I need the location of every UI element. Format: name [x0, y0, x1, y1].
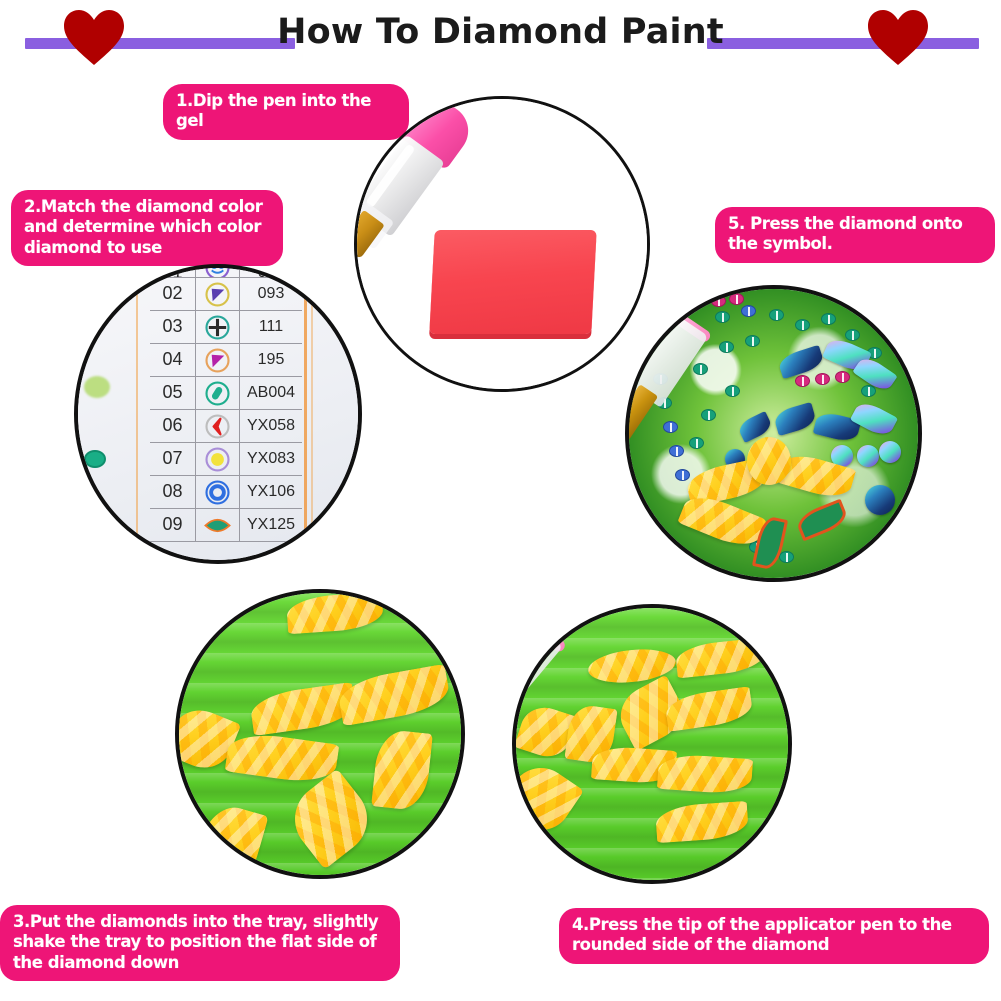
chart-guide-left	[136, 268, 138, 560]
canvas-symbol	[861, 385, 876, 397]
color-chart-row: 08YX106	[150, 476, 302, 509]
chart-cell-number: 08	[150, 476, 196, 508]
chart-cell-number: 09	[150, 509, 196, 541]
chart-cell-number: 04	[150, 344, 196, 376]
canvas-symbol	[795, 375, 810, 387]
chart-cell-code: YX125	[240, 509, 302, 541]
chart-cell-number: 07	[150, 443, 196, 475]
canvas-symbol	[815, 373, 830, 385]
canvas-symbol	[693, 363, 708, 375]
placed-gem	[857, 445, 879, 467]
chart-cell-symbol	[196, 410, 240, 442]
color-chart-row: 06YX058	[150, 410, 302, 443]
chart-guide-right	[304, 268, 307, 560]
step-5-label: 5. Press the diamond onto the symbol.	[715, 207, 995, 263]
canvas-symbol	[669, 445, 684, 457]
canvas-symbol	[845, 329, 860, 341]
chart-cell-symbol	[196, 311, 240, 343]
chart-cell-symbol	[196, 278, 240, 310]
step-3-photo	[175, 589, 465, 879]
chart-cell-symbol	[196, 509, 240, 541]
chart-cell-number: 02	[150, 278, 196, 310]
chart-bleed-dot-teal	[84, 450, 106, 468]
placed-gem	[879, 441, 901, 463]
step-4-photo	[512, 604, 792, 884]
color-chart-row: 02093	[150, 278, 302, 311]
chart-cell-code: 195	[240, 344, 302, 376]
canvas-symbol	[711, 295, 726, 307]
chart-bleed-dot-green	[84, 376, 110, 398]
canvas-symbol	[663, 421, 678, 433]
chart-cell-symbol	[196, 344, 240, 376]
chart-cell-number: 05	[150, 377, 196, 409]
canvas-symbol	[701, 409, 716, 421]
canvas-symbol	[795, 319, 810, 331]
chart-cell-symbol	[196, 264, 240, 277]
color-chart-row: 01028	[150, 264, 302, 278]
canvas-symbol	[835, 371, 850, 383]
step-4-label: 4.Press the tip of the applicator pen to…	[559, 908, 989, 964]
gel-pad	[430, 230, 598, 334]
chart-cell-symbol	[196, 377, 240, 409]
canvas-symbol	[675, 469, 690, 481]
canvas-symbol	[719, 341, 734, 353]
chart-cell-symbol	[196, 443, 240, 475]
page-title: How To Diamond Paint	[0, 12, 1001, 52]
chart-cell-symbol	[196, 476, 240, 508]
canvas-symbol	[821, 313, 836, 325]
placed-diamond-center	[747, 437, 791, 485]
canvas-symbol	[769, 309, 784, 321]
canvas-symbol	[689, 437, 704, 449]
step-2-label: 2.Match the diamond color and determine …	[11, 190, 283, 266]
canvas-symbol	[715, 311, 730, 323]
color-chart-row: 04195	[150, 344, 302, 377]
step-2-photo: 0102802093031110419505AB00406YX05807YX08…	[74, 264, 362, 564]
step-1-photo	[354, 96, 650, 392]
color-chart-row: 03111	[150, 311, 302, 344]
chart-cell-code: 111	[240, 311, 302, 343]
placed-gem	[865, 485, 895, 515]
chart-cell-code: YX058	[240, 410, 302, 442]
color-chart-table: 0102802093031110419505AB00406YX05807YX08…	[150, 264, 302, 542]
color-chart-row: 05AB004	[150, 377, 302, 410]
chart-cell-number: 03	[150, 311, 196, 343]
step-5-photo	[625, 285, 922, 582]
infographic-page: How To Diamond Paint 1.Dip the pen into …	[0, 0, 1001, 1001]
canvas-symbol	[745, 335, 760, 347]
canvas-symbol	[729, 293, 744, 305]
color-chart-row: 07YX083	[150, 443, 302, 476]
chart-cell-code: YX106	[240, 476, 302, 508]
canvas-symbol	[741, 305, 756, 317]
chart-cell-code: 093	[240, 278, 302, 310]
chart-cell-number: 06	[150, 410, 196, 442]
color-chart-row: 09YX125	[150, 509, 302, 542]
canvas-symbol	[779, 551, 794, 563]
chart-cell-code: YX083	[240, 443, 302, 475]
chart-guide-right-2	[311, 268, 313, 560]
chart-cell-code: AB004	[240, 377, 302, 409]
canvas-symbol	[725, 385, 740, 397]
step-3-label: 3.Put the diamonds into the tray, slight…	[0, 905, 400, 981]
